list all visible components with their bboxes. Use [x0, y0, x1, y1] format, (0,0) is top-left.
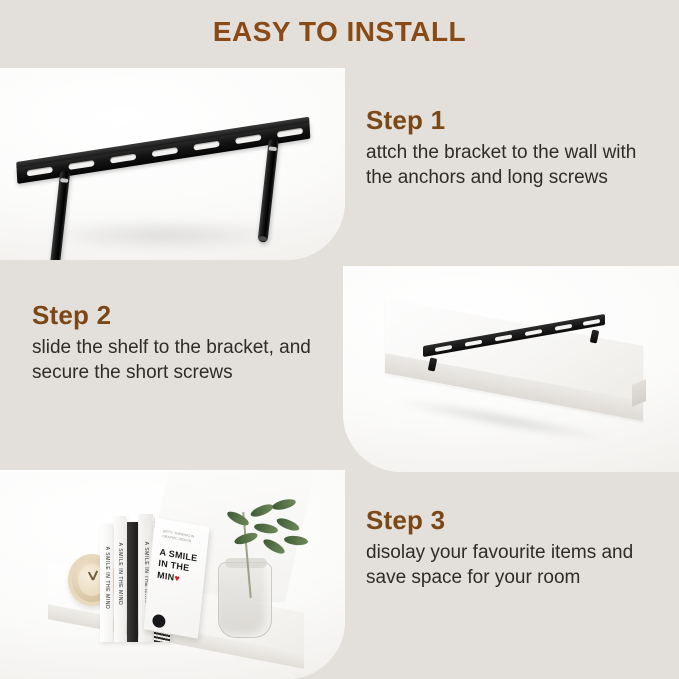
publisher-badge [152, 613, 166, 628]
bracket-slot [152, 147, 178, 157]
step-1-text: Step 1 attch the bracket to the wall wit… [366, 105, 666, 190]
step-3-heading: Step 3 [366, 505, 671, 536]
leaf-icon [225, 509, 250, 528]
shelf-side-edge [632, 379, 646, 407]
rod-collar [269, 146, 277, 151]
bracket-slot [68, 160, 94, 170]
bracket-slot [583, 318, 600, 325]
bracket-slot [525, 329, 542, 336]
bracket-slot [110, 154, 136, 164]
bracket-slot [465, 339, 482, 346]
leaf-icon [249, 502, 275, 519]
bracket-slot [495, 334, 512, 341]
bracket-slot [277, 128, 303, 138]
leaf-icon [261, 537, 286, 557]
step-1-heading: Step 1 [366, 105, 666, 136]
step-2-text: Step 2 slide the shelf to the bracket, a… [32, 300, 332, 385]
step-3-image: A SMILE IN THE MIND A SMILE IN THE MIND … [0, 470, 345, 679]
bracket-slot [435, 344, 452, 351]
bracket-rod-left [49, 170, 70, 260]
book-spine: A SMILE IN THE MIND [114, 516, 126, 642]
page-title: EASY TO INSTALL [0, 16, 679, 48]
bracket-rod-right [258, 138, 279, 242]
rod-collar [60, 178, 68, 183]
floating-shelf [385, 316, 645, 436]
book-spine-title: A SMILE IN THE MIND [104, 547, 110, 610]
bracket-slot [194, 141, 220, 151]
bracket-slot [235, 134, 261, 144]
book-spine-dark [127, 522, 138, 642]
step-1-image [0, 68, 345, 260]
leaf-icon [271, 497, 296, 512]
step-1-body: attch the bracket to the wall with the a… [366, 140, 666, 190]
leaf-icon [275, 516, 301, 533]
bracket-slot [27, 166, 53, 176]
front-book-cover: WITTY THINKING IN GRAPHIC DESIGN A SMILE… [143, 517, 210, 638]
step-3-text: Step 3 disolay your favourite items and … [366, 505, 671, 590]
leaf-icon [284, 535, 309, 546]
install-instructions-page: EASY TO INSTALL [0, 0, 679, 679]
step-2-image [343, 266, 679, 472]
bracket-slot [555, 323, 572, 330]
book-spine: A SMILE IN THE MIND [100, 524, 113, 642]
step-2-body: slide the shelf to the bracket, and secu… [32, 335, 332, 385]
plant-sprig [214, 490, 334, 595]
step-3-body: disolay your favourite items and save sp… [366, 540, 671, 590]
rod-cap [259, 236, 268, 242]
styled-shelf-scene: A SMILE IN THE MIND A SMILE IN THE MIND … [0, 470, 345, 679]
book-cover-title: A SMILEIN THEMIN♥ [157, 547, 202, 588]
book-cover-subtitle: WITTY THINKING IN GRAPHIC DESIGN [162, 529, 201, 546]
book-spine-title: A SMILE IN THE MIND [117, 543, 123, 606]
clock-minute-hand [92, 570, 98, 580]
heart-icon: ♥ [174, 572, 181, 583]
step-2-heading: Step 2 [32, 300, 332, 331]
wall-bracket [7, 121, 333, 259]
leaf-icon [253, 522, 278, 535]
